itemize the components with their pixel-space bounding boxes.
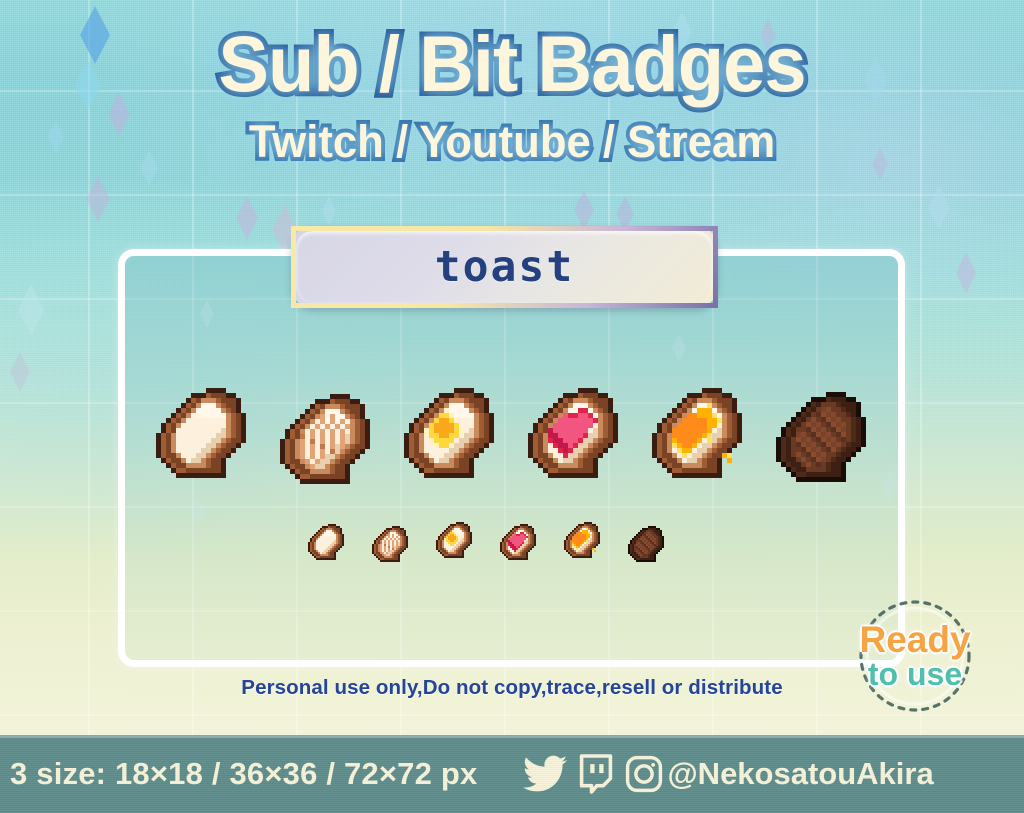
badge-art (372, 526, 408, 562)
social-handle: @NekosatouAkira (667, 756, 933, 792)
stamp-line-ready: Ready (859, 622, 970, 657)
badge-art (528, 388, 618, 478)
badge-honey-toast-small[interactable] (564, 522, 600, 558)
header: Sub / Bit Badges Twitch / Youtube / Stre… (0, 24, 1024, 164)
badge-name-label: toast (435, 242, 574, 292)
badge-butter-toast-large[interactable] (404, 388, 494, 478)
badge-plain-toast-large[interactable] (156, 388, 246, 478)
badge-row-large (150, 376, 890, 486)
badge-art (436, 522, 472, 558)
badge-art (776, 392, 866, 482)
badge-art (652, 388, 742, 478)
badge-art (404, 388, 494, 478)
badge-art (564, 522, 600, 558)
badge-art (280, 394, 370, 484)
badge-art (628, 526, 664, 562)
twitter-icon[interactable] (523, 755, 567, 793)
poster: Sub / Bit Badges Twitch / Youtube / Stre… (0, 0, 1024, 813)
stamp-line-touse: to use (868, 659, 962, 689)
sparkle-diamond (10, 352, 30, 392)
badge-jam-toast-large[interactable] (528, 388, 618, 478)
badge-burnt-toast-small[interactable] (628, 526, 664, 562)
badge-plain-toast-small[interactable] (308, 524, 344, 560)
badge-burnt-toast-large[interactable] (776, 392, 866, 482)
ready-to-use-stamp: Ready to use (851, 598, 979, 714)
badge-butter-toast-small[interactable] (436, 522, 472, 558)
sparkle-diamond (956, 252, 976, 294)
page-title: Sub / Bit Badges (20, 24, 1003, 103)
footer-bar: 3 size: 18×18 / 36×36 / 72×72 px (0, 735, 1024, 813)
social-icons (523, 754, 663, 794)
badge-art (156, 388, 246, 478)
sparkle-diamond (322, 196, 336, 226)
badge-grilled-toast-small[interactable] (372, 526, 408, 562)
sparkle-diamond (236, 196, 258, 240)
sparkle-diamond (928, 186, 950, 230)
badge-jam-toast-small[interactable] (500, 524, 536, 560)
page-subtitle: Twitch / Youtube / Stream (15, 119, 1008, 164)
sparkle-diamond (86, 176, 110, 222)
badge-art (500, 524, 536, 560)
instagram-icon[interactable] (625, 754, 663, 794)
sparkle-diamond (574, 190, 594, 230)
badge-honey-toast-large[interactable] (652, 388, 742, 478)
badge-row-small (308, 518, 688, 578)
badge-name-plate: toast (291, 226, 718, 308)
badge-art (308, 524, 344, 560)
badge-grilled-toast-large[interactable] (280, 394, 370, 484)
twitch-icon[interactable] (578, 754, 614, 794)
footer-size-info: 3 size: 18×18 / 36×36 / 72×72 px (10, 756, 477, 792)
sparkle-diamond (18, 284, 44, 336)
